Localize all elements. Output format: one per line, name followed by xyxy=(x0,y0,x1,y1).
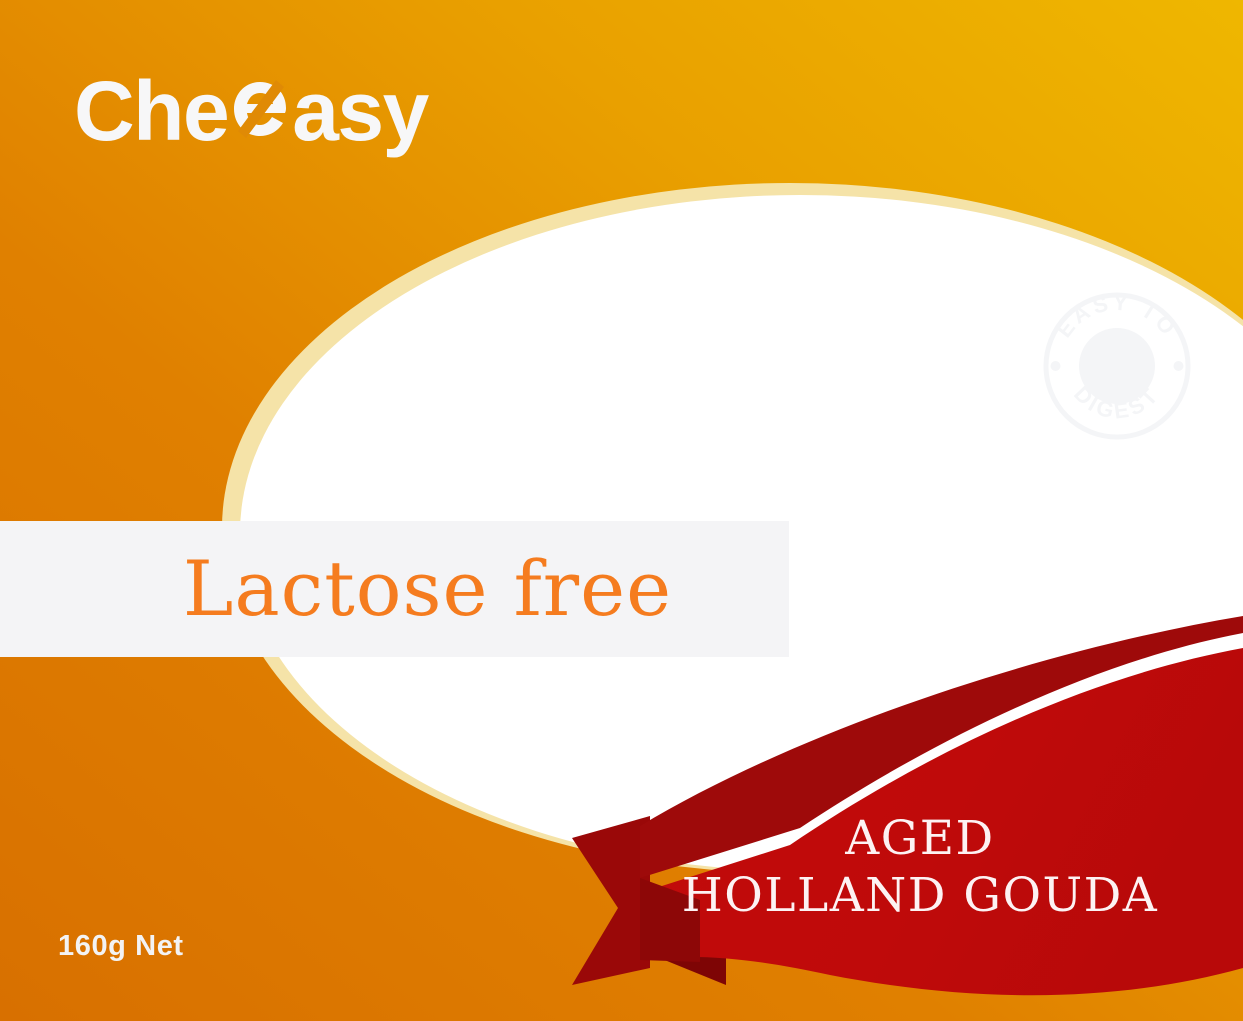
label-artwork xyxy=(0,0,1243,1021)
claim-band-shape xyxy=(0,521,789,657)
product-label-canvas: Che asy Lactose free AGED HOLLAND GOUDA … xyxy=(0,0,1243,1021)
